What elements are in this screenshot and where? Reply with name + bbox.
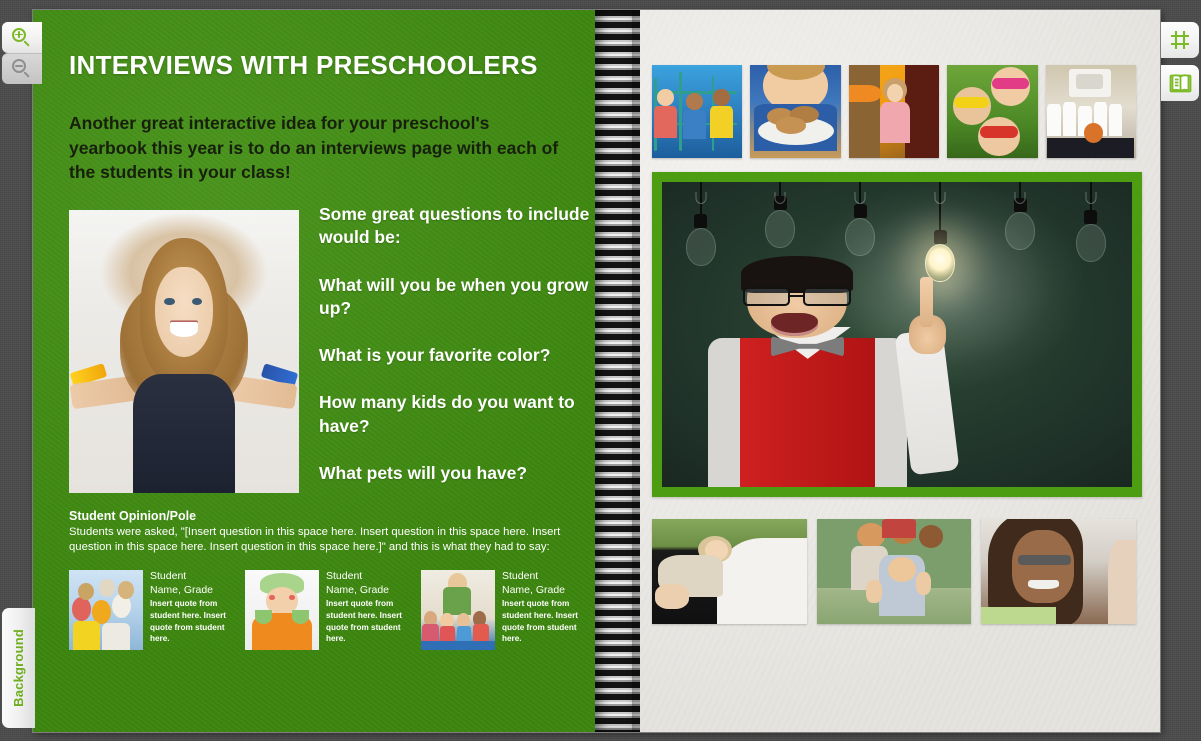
book-icon [1169, 73, 1192, 94]
intro-paragraph: Another great interactive idea for your … [69, 111, 567, 185]
boy-with-cookies-photo[interactable] [750, 65, 840, 158]
student-card[interactable]: Student Name, Grade Insert quote from st… [421, 570, 595, 650]
student-name-line2: Name, Grade [502, 584, 592, 598]
kids-in-sunglasses-on-grass-photo[interactable] [947, 65, 1037, 158]
question-4: What pets will you have? [319, 462, 595, 485]
smiling-girl-with-pencils-photo[interactable] [69, 210, 299, 493]
student-name-line1: Student [326, 570, 416, 584]
student-card[interactable]: Student Name, Grade Insert quote from st… [69, 570, 245, 650]
right-page[interactable] [640, 10, 1160, 732]
zoom-out-button[interactable] [2, 53, 42, 84]
question-1: What will you be when you grow up? [319, 274, 595, 321]
zoom-toolbar [2, 22, 42, 84]
question-2: What is your favorite color? [319, 344, 595, 367]
page-title: INTERVIEWS WITH PRESCHOOLERS [69, 50, 595, 81]
girl-on-playground-photo[interactable] [849, 65, 939, 158]
girl-lying-on-cow-photo[interactable] [652, 519, 807, 624]
grid-button[interactable] [1161, 22, 1199, 58]
question-intro: Some great questions to include would be… [319, 203, 595, 250]
student-card-text: Student Name, Grade Insert quote from st… [502, 570, 592, 650]
hero-photo-frame [652, 172, 1142, 497]
student-name-line2: Name, Grade [150, 584, 240, 598]
student-name-line1: Student [150, 570, 240, 584]
right-toolbar [1161, 22, 1199, 108]
question-3: How many kids do you want to have? [319, 391, 595, 438]
student-card-text: Student Name, Grade Insert quote from st… [150, 570, 240, 650]
photo-and-questions-row: Some great questions to include would be… [69, 203, 595, 493]
student-card-text: Student Name, Grade Insert quote from st… [326, 570, 416, 650]
book-spine [595, 10, 640, 732]
group-of-kids-in-hats-photo[interactable] [69, 570, 143, 650]
student-quote: Insert quote from student here. Insert q… [326, 598, 416, 645]
student-quote-cards: Student Name, Grade Insert quote from st… [69, 570, 595, 650]
background-tab-label: Background [11, 629, 26, 707]
zoom-in-button[interactable] [2, 22, 42, 53]
poll-body: Students were asked, "[Insert question i… [69, 525, 569, 556]
kids-giving-thumbs-up-photo[interactable] [817, 519, 972, 624]
grid-icon [1169, 29, 1191, 51]
teacher-with-class-photo[interactable] [421, 570, 495, 650]
zoom-in-icon [12, 28, 32, 48]
kids-with-basketball-photo[interactable] [1046, 65, 1136, 158]
background-panel-tab[interactable]: Background [2, 608, 35, 728]
girl-with-glasses-photo[interactable] [981, 519, 1136, 624]
thumbnail-strip [652, 65, 1136, 158]
yearbook-spread: INTERVIEWS WITH PRESCHOOLERS Another gre… [33, 10, 1160, 732]
book-view-button[interactable] [1161, 65, 1199, 101]
questions-list: Some great questions to include would be… [319, 203, 595, 485]
student-quote: Insert quote from student here. Insert q… [150, 598, 240, 645]
bottom-photo-strip [652, 519, 1136, 624]
student-opinion-poll-block: Student Opinion/Pole Students were asked… [69, 509, 569, 556]
left-page[interactable]: INTERVIEWS WITH PRESCHOOLERS Another gre… [33, 10, 595, 732]
zoom-out-icon [12, 59, 32, 79]
student-quote: Insert quote from student here. Insert q… [502, 598, 592, 645]
student-name-line1: Student [502, 570, 592, 584]
student-name-line2: Name, Grade [326, 584, 416, 598]
kids-on-climbing-frame-photo[interactable] [652, 65, 742, 158]
student-card[interactable]: Student Name, Grade Insert quote from st… [245, 570, 421, 650]
boy-with-glasses-pointing-at-lightbulb-photo[interactable] [662, 182, 1132, 487]
child-in-pumpkin-costume-photo[interactable] [245, 570, 319, 650]
poll-heading: Student Opinion/Pole [69, 509, 569, 523]
